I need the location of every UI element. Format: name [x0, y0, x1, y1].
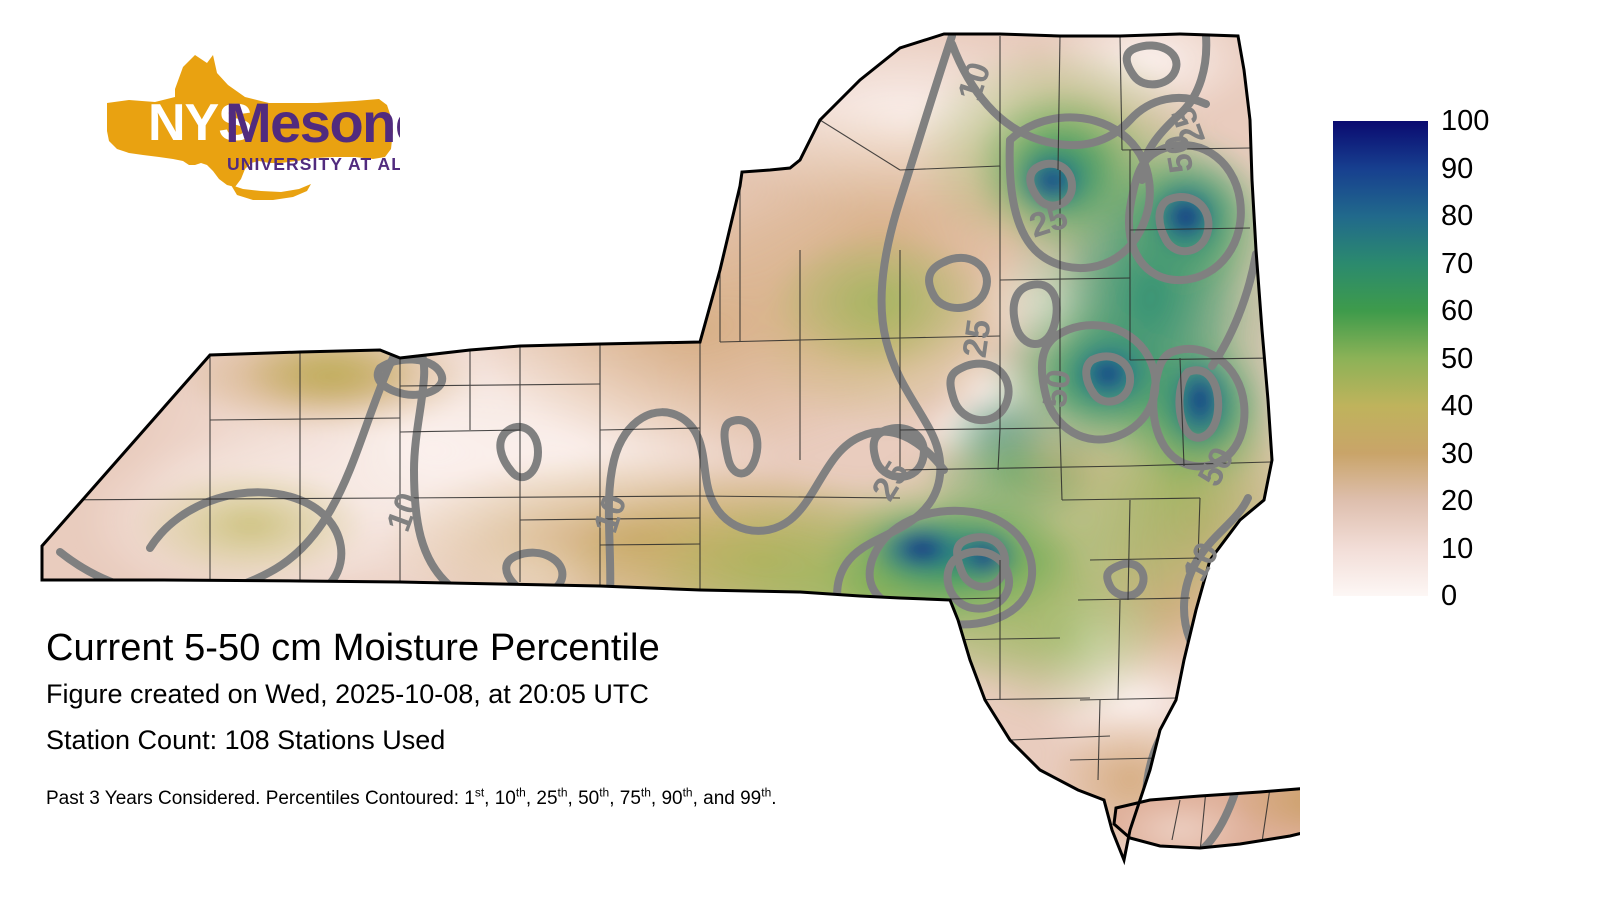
colorbar-tick-60: 60 — [1441, 297, 1473, 326]
figure-text-block: Current 5-50 cm Moisture Percentile Figu… — [46, 625, 1056, 811]
colorbar-tick-10: 10 — [1441, 535, 1473, 564]
figure-footnote: Past 3 Years Considered. Percentiles Con… — [46, 787, 1056, 811]
figure-created-timestamp: Figure created on Wed, 2025-10-08, at 20… — [46, 671, 1056, 717]
colorbar-gradient — [1333, 121, 1428, 596]
colorbar-tick-80: 80 — [1441, 202, 1473, 231]
colorbar-tick-20: 20 — [1441, 487, 1473, 516]
colorbar: 1009080706050403020100 — [1333, 121, 1583, 611]
colorbar-tick-70: 70 — [1441, 250, 1473, 279]
contour-label-50-5: 50 — [1036, 367, 1079, 410]
page-title: Current 5-50 cm Moisture Percentile — [46, 625, 1056, 671]
colorbar-tick-50: 50 — [1441, 345, 1473, 374]
colorbar-tick-100: 100 — [1441, 107, 1489, 136]
colorbar-tick-40: 40 — [1441, 392, 1473, 421]
colorbar-tick-0: 0 — [1441, 582, 1457, 611]
station-count-label: Station Count: 108 Stations Used — [46, 717, 1056, 763]
contour-label-50-3: 50 — [1157, 132, 1201, 176]
contour-label-25-4: 25 — [956, 317, 999, 360]
colorbar-tick-labels: 1009080706050403020100 — [1441, 99, 1571, 619]
colorbar-tick-30: 30 — [1441, 440, 1473, 469]
colorbar-tick-90: 90 — [1441, 155, 1473, 184]
